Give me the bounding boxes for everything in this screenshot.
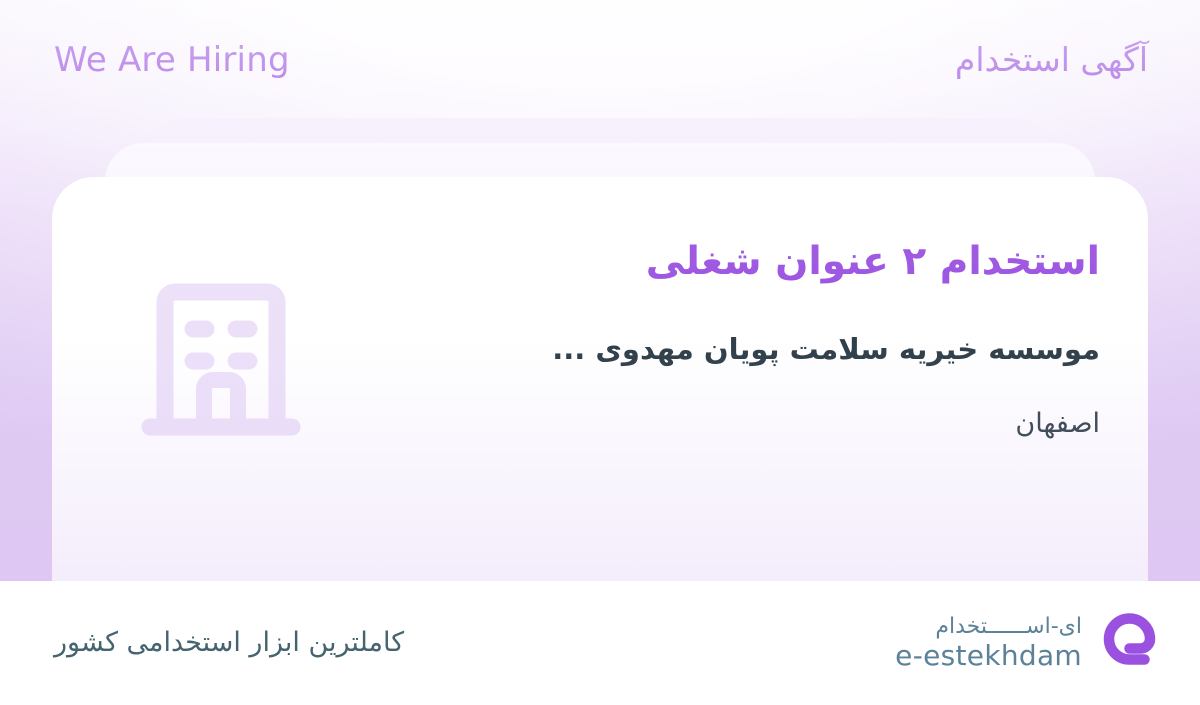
e-estekhdam-logo-icon	[1096, 612, 1158, 674]
job-location: اصفهان	[340, 404, 1100, 445]
brand-text: ای-اســــــتخدام e-estekhdam	[895, 614, 1082, 673]
brand-lockup[interactable]: ای-اســــــتخدام e-estekhdam	[895, 612, 1158, 674]
company-name[interactable]: موسسه خیریه سلامت پویان مهدوی ...	[340, 328, 1100, 372]
office-building-icon	[138, 275, 304, 451]
job-card-body: استخدام ۲ عنوان شغلی موسسه خیریه سلامت پ…	[52, 177, 1148, 581]
header-hiring-label: We Are Hiring	[54, 40, 290, 81]
header-job-ad-label: آگهی استخدام	[955, 38, 1148, 83]
job-info-block: استخدام ۲ عنوان شغلی موسسه خیریه سلامت پ…	[340, 233, 1100, 445]
brand-name-en: e-estekhdam	[895, 639, 1082, 672]
footer-tagline: کاملترین ابزار استخدامی کشور	[54, 623, 404, 664]
job-title[interactable]: استخدام ۲ عنوان شغلی	[340, 233, 1100, 292]
brand-name-fa: ای-اســــــتخدام	[935, 614, 1082, 640]
hero-background: We Are Hiring آگهی استخدام	[0, 0, 1200, 581]
job-ad-banner: We Are Hiring آگهی استخدام	[0, 0, 1200, 705]
footer-bar: کاملترین ابزار استخدامی کشور ای-اســــــ…	[0, 581, 1200, 705]
job-card[interactable]: استخدام ۲ عنوان شغلی موسسه خیریه سلامت پ…	[52, 177, 1148, 581]
